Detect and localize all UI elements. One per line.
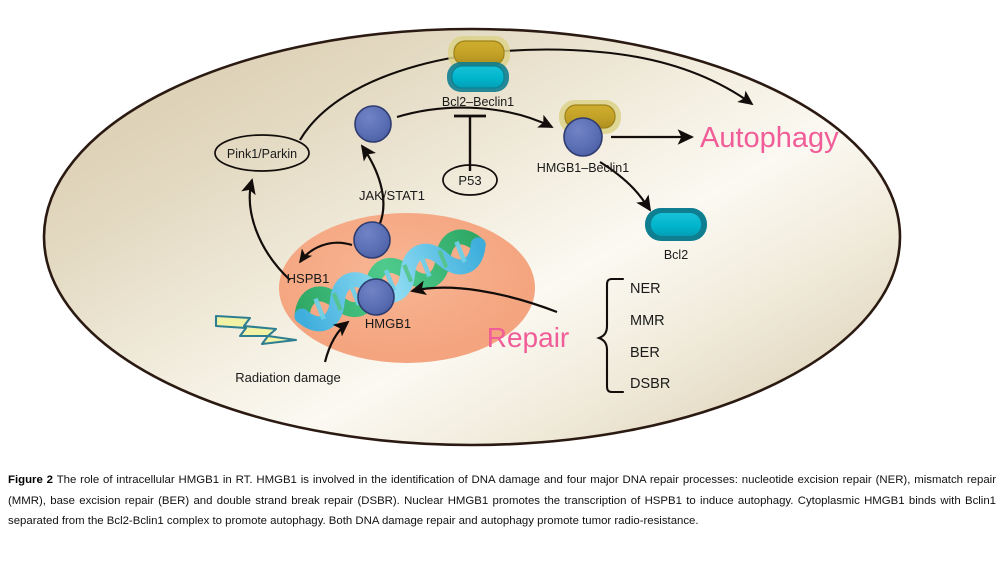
label-bcl2-beclin1: Bcl2–Beclin1 xyxy=(442,95,514,109)
label-repair: Repair xyxy=(487,322,569,353)
label-hspb1: HSPB1 xyxy=(287,271,330,286)
label-radiation-damage: Radiation damage xyxy=(235,370,341,385)
repair-item-mmr: MMR xyxy=(630,313,665,329)
label-p53: P53 xyxy=(458,173,481,188)
label-pink1-parkin: Pink1/Parkin xyxy=(227,147,297,161)
molecule-bcl2 xyxy=(645,208,707,241)
repair-item-ner: NER xyxy=(630,281,661,297)
figure-caption-label: Figure 2 xyxy=(8,474,53,486)
repair-item-dsbr: DSBR xyxy=(630,376,670,392)
pathway-diagram: Bcl2–Beclin1 HMGB1–Beclin1 Bcl2 Pink1/Pa… xyxy=(0,0,1003,455)
molecule-nuclear-hmgb1-lower xyxy=(358,279,394,315)
label-hmgb1-beclin1: HMGB1–Beclin1 xyxy=(537,161,629,175)
label-autophagy: Autophagy xyxy=(700,122,839,154)
figure-2-root: Bcl2–Beclin1 HMGB1–Beclin1 Bcl2 Pink1/Pa… xyxy=(0,0,1003,564)
figure-caption: Figure 2 The role of intracellular HMGB1… xyxy=(8,470,996,532)
molecule-bcl2-beclin1 xyxy=(447,36,510,92)
molecule-cytoplasmic-hmgb1 xyxy=(355,106,391,142)
label-jak-stat1: JAK/STAT1 xyxy=(359,188,425,203)
label-bcl2: Bcl2 xyxy=(664,248,688,262)
repair-item-ber: BER xyxy=(630,345,660,361)
molecule-nuclear-hmgb1-upper xyxy=(354,222,390,258)
figure-caption-text: The role of intracellular HMGB1 in RT. H… xyxy=(8,474,996,527)
label-hmgb1: HMGB1 xyxy=(365,316,411,331)
